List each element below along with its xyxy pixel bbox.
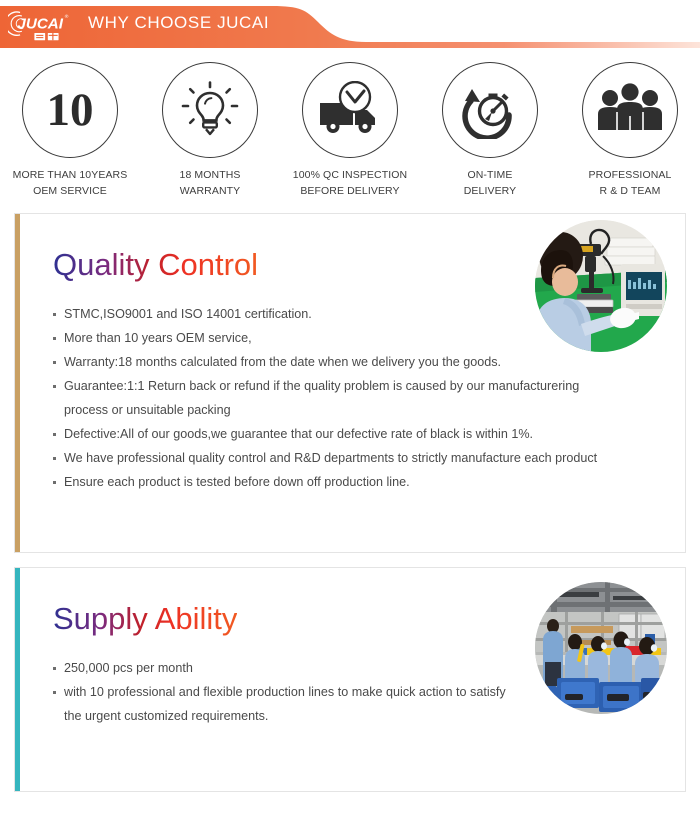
bullet-item: STMC,ISO9001 and ISO 14001 certification… xyxy=(53,304,685,325)
banner-title: WHY CHOOSE JUCAI xyxy=(88,13,269,33)
bullet-item: Guarantee:1:1 Return back or refund if t… xyxy=(53,376,685,397)
quality-control-title: Quality Control xyxy=(53,248,258,282)
bullet-item: Ensure each product is tested before dow… xyxy=(53,472,685,493)
ten-years-icon: 10 xyxy=(22,62,118,158)
team-people-icon xyxy=(595,82,665,138)
supply-ability-bullet-list: 250,000 pcs per monthwith 10 professiona… xyxy=(37,658,685,727)
feature-item-rd-team: PROFESSIONAL R & D TEAM xyxy=(560,62,700,199)
feature-label: ON-TIME DELIVERY xyxy=(464,167,517,199)
feature-label: 18 MONTHS WARRANTY xyxy=(180,167,241,199)
bullet-item: with 10 professional and flexible produc… xyxy=(53,682,685,703)
lightbulb-icon-wrap xyxy=(162,62,258,158)
supply-ability-content: Supply Ability 250,000 pcs per monthwith… xyxy=(15,568,685,748)
feature-item-oem-service: 10 MORE THAN 10YEARS OEM SERVICE xyxy=(0,62,140,199)
svg-text:JUCAI: JUCAI xyxy=(17,16,63,33)
bullet-item: More than 10 years OEM service, xyxy=(53,328,685,349)
bullet-item: process or unsuitable packing xyxy=(53,400,685,421)
supply-ability-card: Supply Ability 250,000 pcs per monthwith… xyxy=(14,567,686,792)
page-header-banner: JUCAI ® WHY CHOOSE JUCAI xyxy=(0,0,700,52)
feature-item-on-time-delivery: ON-TIME DELIVERY xyxy=(420,62,560,199)
truck-clock-icon xyxy=(317,81,383,139)
bullet-item: Warranty:18 months calculated from the d… xyxy=(53,352,685,373)
bullet-item: We have professional quality control and… xyxy=(53,448,685,469)
lightbulb-icon xyxy=(179,79,241,141)
team-people-icon-wrap xyxy=(582,62,678,158)
feature-label: PROFESSIONAL R & D TEAM xyxy=(589,167,672,199)
feature-label: 100% QC INSPECTION BEFORE DELIVERY xyxy=(293,167,407,199)
quality-control-card: Quality Control STMC,ISO9001 and ISO 140… xyxy=(14,213,686,553)
bullet-item: the urgent customized requirements. xyxy=(53,706,685,727)
feature-item-warranty: 18 MONTHS WARRANTY xyxy=(140,62,280,199)
stopwatch-arrow-icon-wrap xyxy=(442,62,538,158)
svg-text:®: ® xyxy=(65,13,69,20)
quality-control-bullet-list: STMC,ISO9001 and ISO 14001 certification… xyxy=(37,304,685,493)
stopwatch-arrow-icon xyxy=(459,81,521,139)
quality-control-content: Quality Control STMC,ISO9001 and ISO 140… xyxy=(15,214,685,514)
feature-label: MORE THAN 10YEARS OEM SERVICE xyxy=(13,167,128,199)
ten-years-number: 10 xyxy=(47,87,94,134)
feature-highlights-row: 10 MORE THAN 10YEARS OEM SERVICE xyxy=(0,52,700,199)
jucai-logo: JUCAI ® xyxy=(8,8,76,42)
feature-item-qc-inspection: 100% QC INSPECTION BEFORE DELIVERY xyxy=(280,62,420,199)
bullet-item: Defective:All of our goods,we guarantee … xyxy=(53,424,685,445)
truck-clock-icon-wrap xyxy=(302,62,398,158)
bullet-item: 250,000 pcs per month xyxy=(53,658,685,679)
supply-ability-title: Supply Ability xyxy=(53,602,237,636)
